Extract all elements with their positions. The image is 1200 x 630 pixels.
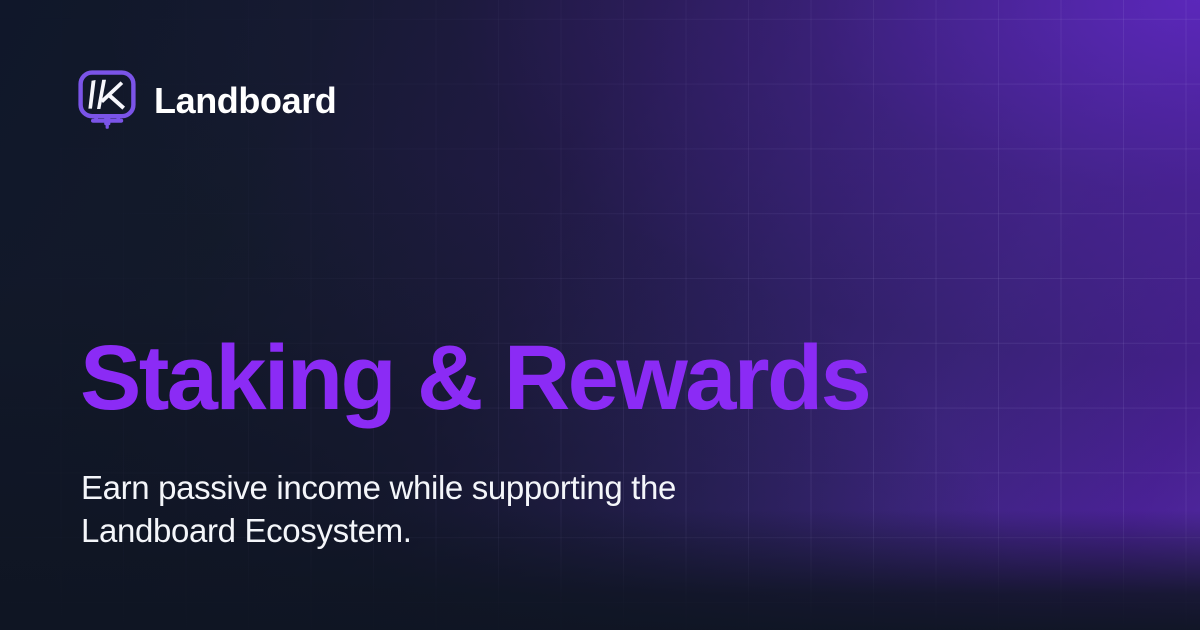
brand-lockup: Landboard [78, 70, 336, 132]
page-subtitle-line-1: Earn passive income while supporting the [81, 467, 841, 510]
page-title: Staking & Rewards [80, 332, 869, 426]
page-subtitle-line-2: Landboard Ecosystem. [81, 510, 841, 553]
landboard-monitor-logo-icon [78, 70, 136, 132]
page-subtitle: Earn passive income while supporting the… [81, 467, 841, 553]
og-share-card: Landboard Staking & Rewards Earn passive… [0, 0, 1200, 630]
brand-name: Landboard [154, 83, 336, 119]
card-content: Landboard Staking & Rewards Earn passive… [0, 0, 1200, 630]
